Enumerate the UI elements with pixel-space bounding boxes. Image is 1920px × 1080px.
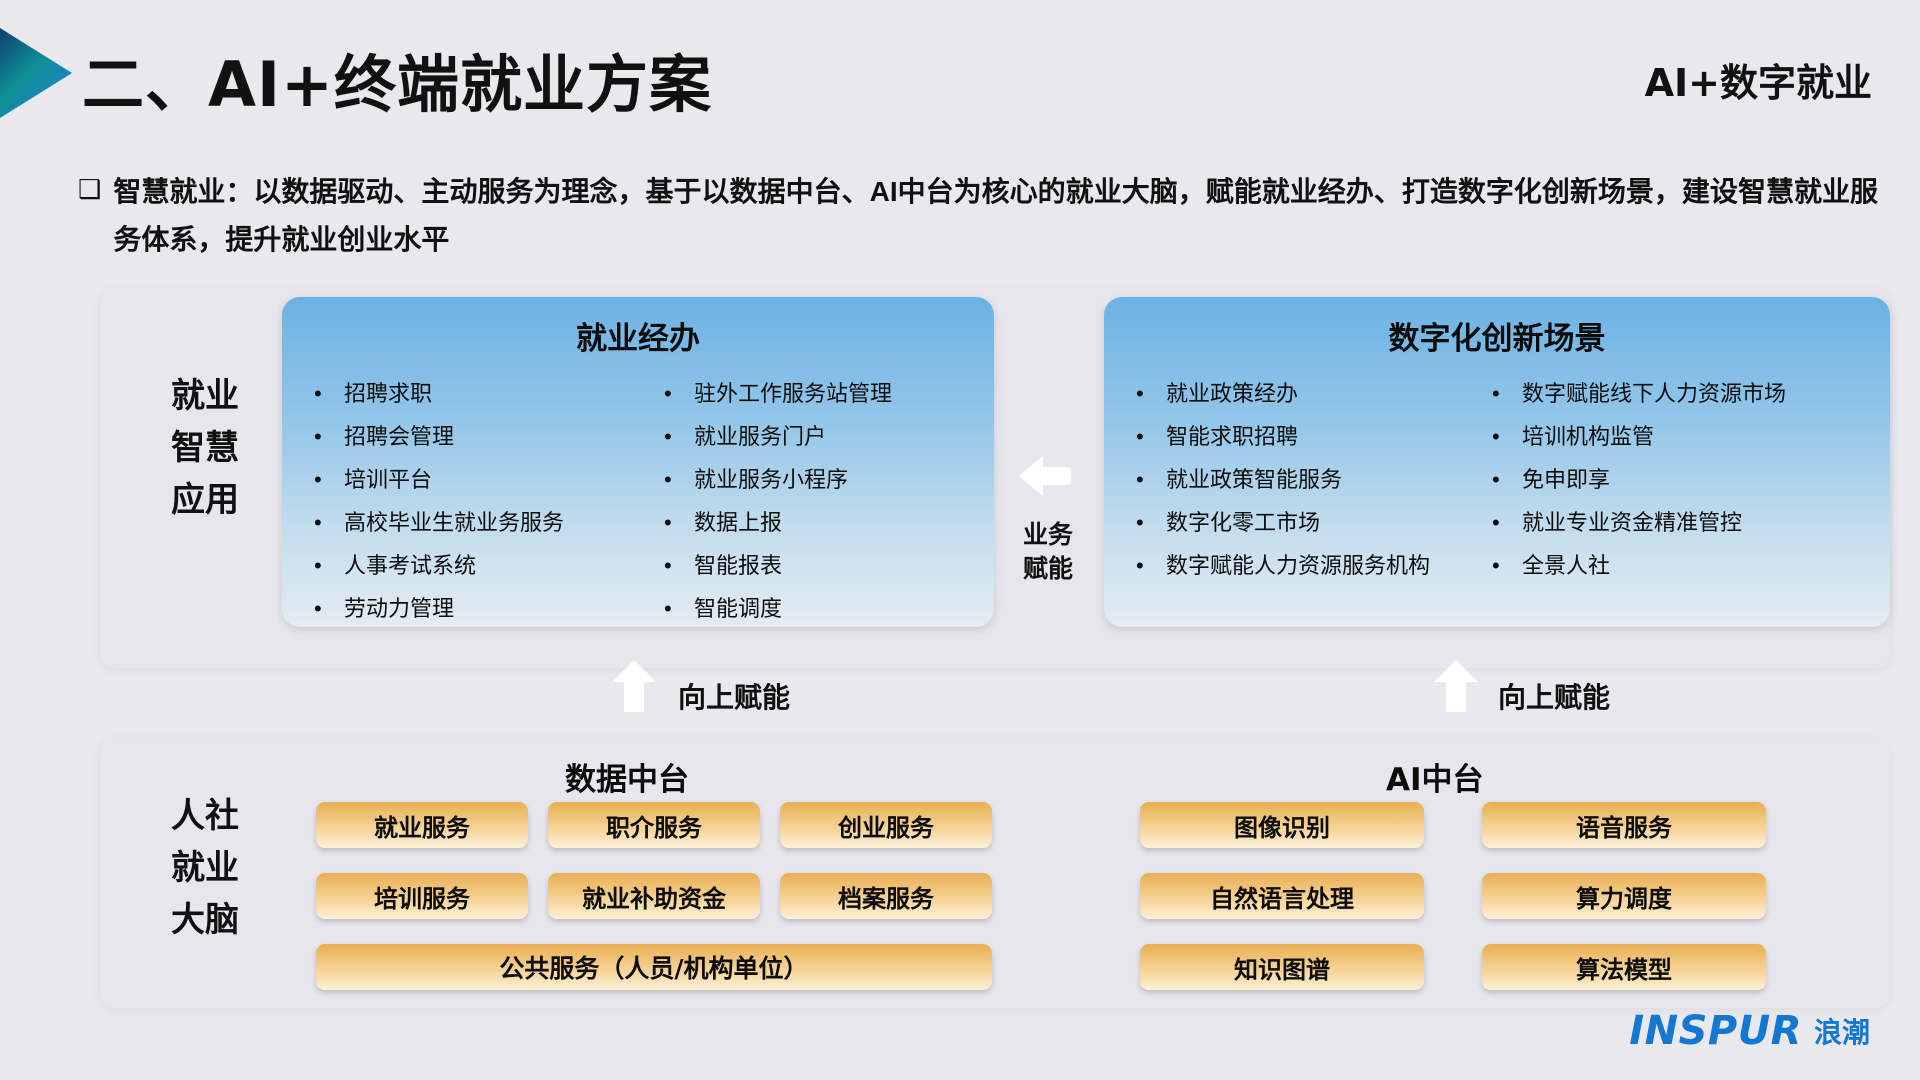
list-item-label: 劳动力管理 <box>344 587 638 627</box>
list-item[interactable]: •就业服务小程序 <box>664 458 988 501</box>
list-item-label: 培训机构监管 <box>1522 415 1884 458</box>
bullet-dot-icon: • <box>314 372 344 415</box>
list-item[interactable]: •人事考试系统 <box>314 544 638 587</box>
lead-text: 智慧就业：以数据驱动、主动服务为理念，基于以数据中台、AI中台为核心的就业大脑，… <box>113 168 1878 264</box>
list-item[interactable]: •就业政策经办 <box>1136 372 1466 415</box>
list-item[interactable]: •数字赋能人力资源服务机构 <box>1136 544 1466 587</box>
bullet-dot-icon: • <box>664 415 694 458</box>
bullet-dot-icon: • <box>1492 458 1522 501</box>
card-column-left: •就业政策经办 •智能求职招聘 •就业政策智能服务 •数字化零工市场 •数字赋能… <box>1110 372 1466 587</box>
bullet-dot-icon: • <box>1492 372 1522 415</box>
bullet-dot-icon: • <box>1136 415 1166 458</box>
enable-upward-label-right: 向上赋能 <box>1498 676 1610 716</box>
brand-logo-main: INSPUR <box>1629 1008 1802 1054</box>
list-item-label: 智能调度 <box>694 587 988 627</box>
list-item[interactable]: •数字化零工市场 <box>1136 501 1466 544</box>
upper-side-label: 就业 智慧 应用 <box>120 370 290 526</box>
lower-side-label-line: 人社 <box>120 790 290 842</box>
list-item-label: 数字赋能人力资源服务机构 <box>1166 544 1466 587</box>
list-item-label: 就业服务小程序 <box>694 458 988 501</box>
lead-paragraph: ❑ 智慧就业：以数据驱动、主动服务为理念，基于以数据中台、AI中台为核心的就业大… <box>78 168 1878 264</box>
list-item-label: 数据上报 <box>694 501 988 544</box>
list-item-label: 高校毕业生就业务服务 <box>344 501 638 544</box>
card-column-left: •招聘求职 •招聘会管理 •培训平台 •高校毕业生就业务服务 •人事考试系统 •… <box>288 372 638 627</box>
list-item-label: 驻外工作服务站管理 <box>694 372 988 415</box>
list-item-label: 招聘求职 <box>344 372 638 415</box>
square-bullet-icon: ❑ <box>78 168 101 212</box>
list-item[interactable]: •就业专业资金精准管控 <box>1492 501 1884 544</box>
header-accent-arrow-icon <box>0 28 72 118</box>
bullet-dot-icon: • <box>314 544 344 587</box>
chip-nlp[interactable]: 自然语言处理 <box>1140 873 1424 919</box>
platform-title-data-midend: 数据中台 <box>565 754 689 799</box>
bullet-dot-icon: • <box>1492 501 1522 544</box>
brand-logo: INSPUR 浪潮 <box>1629 1008 1870 1054</box>
upper-side-label-line: 应用 <box>120 474 290 526</box>
business-enablement-line: 业务 <box>1016 518 1080 552</box>
list-item-label: 免申即享 <box>1522 458 1884 501</box>
list-item-label: 就业政策经办 <box>1166 372 1466 415</box>
bullet-dot-icon: • <box>664 458 694 501</box>
lower-side-label-line: 大脑 <box>120 894 290 946</box>
list-item[interactable]: •就业政策智能服务 <box>1136 458 1466 501</box>
page-kicker: AI+数字就业 <box>1645 52 1872 107</box>
brand-logo-cn: 浪潮 <box>1814 1011 1870 1051</box>
chip-employment-service[interactable]: 就业服务 <box>316 802 528 848</box>
upper-side-label-line: 智慧 <box>120 422 290 474</box>
card-digital-innovation-scenarios[interactable]: 数字化创新场景 •就业政策经办 •智能求职招聘 •就业政策智能服务 •数字化零工… <box>1104 297 1890 627</box>
chip-archive-service[interactable]: 档案服务 <box>780 873 992 919</box>
bullet-dot-icon: • <box>1492 544 1522 587</box>
list-item[interactable]: •智能调度 <box>664 587 988 627</box>
bullet-dot-icon: • <box>1136 458 1166 501</box>
list-item[interactable]: •就业服务门户 <box>664 415 988 458</box>
chip-public-service[interactable]: 公共服务（人员/机构单位） <box>316 944 992 990</box>
lower-side-label-line: 就业 <box>120 842 290 894</box>
bullet-dot-icon: • <box>664 544 694 587</box>
list-item-label: 数字化零工市场 <box>1166 501 1466 544</box>
chip-compute-scheduling[interactable]: 算力调度 <box>1482 873 1766 919</box>
list-item[interactable]: •培训机构监管 <box>1492 415 1884 458</box>
list-item[interactable]: •智能报表 <box>664 544 988 587</box>
chip-algorithm-model[interactable]: 算法模型 <box>1482 944 1766 990</box>
arrow-left-icon <box>1019 452 1071 500</box>
bullet-dot-icon: • <box>664 372 694 415</box>
list-item-label: 智能求职招聘 <box>1166 415 1466 458</box>
chip-voice-service[interactable]: 语音服务 <box>1482 802 1766 848</box>
list-item-label: 就业专业资金精准管控 <box>1522 501 1884 544</box>
chip-job-agency-service[interactable]: 职介服务 <box>548 802 760 848</box>
card-title: 就业经办 <box>282 313 994 358</box>
list-item[interactable]: •驻外工作服务站管理 <box>664 372 988 415</box>
card-column-right: •数字赋能线下人力资源市场 •培训机构监管 •免申即享 •就业专业资金精准管控 … <box>1466 372 1884 587</box>
card-employment-handling[interactable]: 就业经办 •招聘求职 •招聘会管理 •培训平台 •高校毕业生就业务服务 •人事考… <box>282 297 994 627</box>
list-item[interactable]: •免申即享 <box>1492 458 1884 501</box>
list-item-label: 招聘会管理 <box>344 415 638 458</box>
chip-image-recognition[interactable]: 图像识别 <box>1140 802 1424 848</box>
list-item-label: 就业政策智能服务 <box>1166 458 1466 501</box>
bullet-dot-icon: • <box>314 458 344 501</box>
bullet-dot-icon: • <box>1136 372 1166 415</box>
chip-knowledge-graph[interactable]: 知识图谱 <box>1140 944 1424 990</box>
list-item-label: 全景人社 <box>1522 544 1884 587</box>
list-item[interactable]: •招聘会管理 <box>314 415 638 458</box>
bullet-dot-icon: • <box>1136 501 1166 544</box>
bullet-dot-icon: • <box>1492 415 1522 458</box>
bullet-dot-icon: • <box>664 501 694 544</box>
lower-side-label: 人社 就业 大脑 <box>120 790 290 946</box>
page-title: 二、AI+终端就业方案 <box>82 34 712 124</box>
list-item[interactable]: •数据上报 <box>664 501 988 544</box>
list-item-label: 数字赋能线下人力资源市场 <box>1522 372 1884 415</box>
list-item[interactable]: •培训平台 <box>314 458 638 501</box>
list-item[interactable]: •智能求职招聘 <box>1136 415 1466 458</box>
bullet-dot-icon: • <box>314 501 344 544</box>
slide-root: 二、AI+终端就业方案 AI+数字就业 ❑ 智慧就业：以数据驱动、主动服务为理念… <box>0 0 1920 1080</box>
bullet-dot-icon: • <box>664 587 694 627</box>
enable-upward-label-left: 向上赋能 <box>678 676 790 716</box>
chip-entrepreneurship-service[interactable]: 创业服务 <box>780 802 992 848</box>
bullet-dot-icon: • <box>1136 544 1166 587</box>
list-item-label: 就业服务门户 <box>694 415 988 458</box>
bullet-dot-icon: • <box>314 415 344 458</box>
arrow-up-icon <box>612 660 656 712</box>
list-item[interactable]: •劳动力管理 <box>314 587 638 627</box>
upper-side-label-line: 就业 <box>120 370 290 422</box>
list-item[interactable]: •招聘求职 <box>314 372 638 415</box>
list-item[interactable]: •数字赋能线下人力资源市场 <box>1492 372 1884 415</box>
list-item[interactable]: •全景人社 <box>1492 544 1884 587</box>
card-title: 数字化创新场景 <box>1104 313 1890 358</box>
list-item-label: 智能报表 <box>694 544 988 587</box>
chip-employment-subsidy-fund[interactable]: 就业补助资金 <box>548 873 760 919</box>
list-item-label: 人事考试系统 <box>344 544 638 587</box>
list-item-label: 培训平台 <box>344 458 638 501</box>
chip-training-service[interactable]: 培训服务 <box>316 873 528 919</box>
list-item[interactable]: •高校毕业生就业务服务 <box>314 501 638 544</box>
business-enablement-line: 赋能 <box>1016 552 1080 586</box>
bullet-dot-icon: • <box>314 587 344 627</box>
platform-title-ai-midend: AI中台 <box>1386 754 1484 799</box>
business-enablement-label: 业务 赋能 <box>1016 518 1080 586</box>
card-column-right: •驻外工作服务站管理 •就业服务门户 •就业服务小程序 •数据上报 •智能报表 … <box>638 372 988 627</box>
arrow-up-icon <box>1434 660 1478 712</box>
